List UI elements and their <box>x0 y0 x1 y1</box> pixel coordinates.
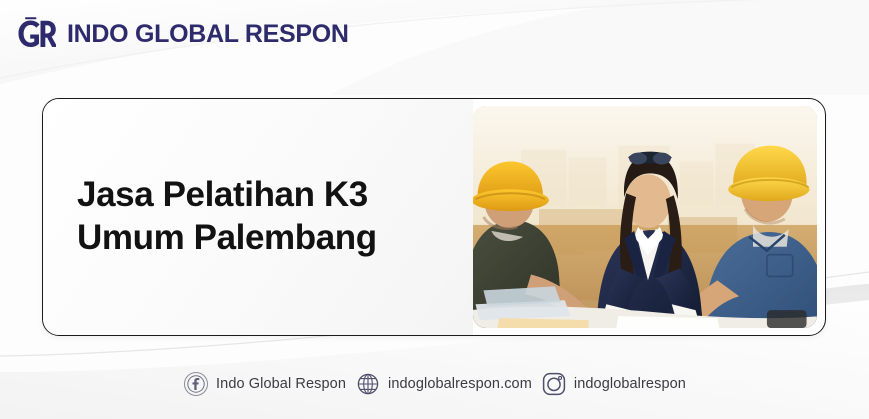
page-title: Jasa Pelatihan K3 Umum Palembang <box>77 174 377 259</box>
contact-footer: Indo Global Respon indoglobalrespon.com … <box>0 371 869 397</box>
instagram-icon[interactable] <box>541 371 567 397</box>
brand-name: INDO GLOBAL RESPON <box>67 20 349 49</box>
page-title-line-1: Jasa Pelatihan K3 <box>77 175 368 214</box>
contact-website[interactable]: indoglobalrespon.com <box>355 371 532 397</box>
contact-facebook-label: Indo Global Respon <box>216 376 346 392</box>
contact-facebook[interactable]: Indo Global Respon <box>183 371 346 397</box>
facebook-icon[interactable] <box>183 371 209 397</box>
igr-monogram-logo <box>14 14 56 54</box>
hero-card: Jasa Pelatihan K3 Umum Palembang <box>42 98 826 336</box>
construction-team-photo <box>473 106 817 328</box>
hero-text-column: Jasa Pelatihan K3 Umum Palembang <box>43 99 473 335</box>
page-title-line-2: Umum Palembang <box>77 218 377 257</box>
contact-instagram-label: indoglobalrespon <box>574 376 686 392</box>
brand-header: INDO GLOBAL RESPON <box>14 14 349 54</box>
hero-photo-frame <box>473 106 817 328</box>
globe-icon[interactable] <box>355 371 381 397</box>
contact-instagram[interactable]: indoglobalrespon <box>541 371 686 397</box>
contact-website-label: indoglobalrespon.com <box>388 376 532 392</box>
